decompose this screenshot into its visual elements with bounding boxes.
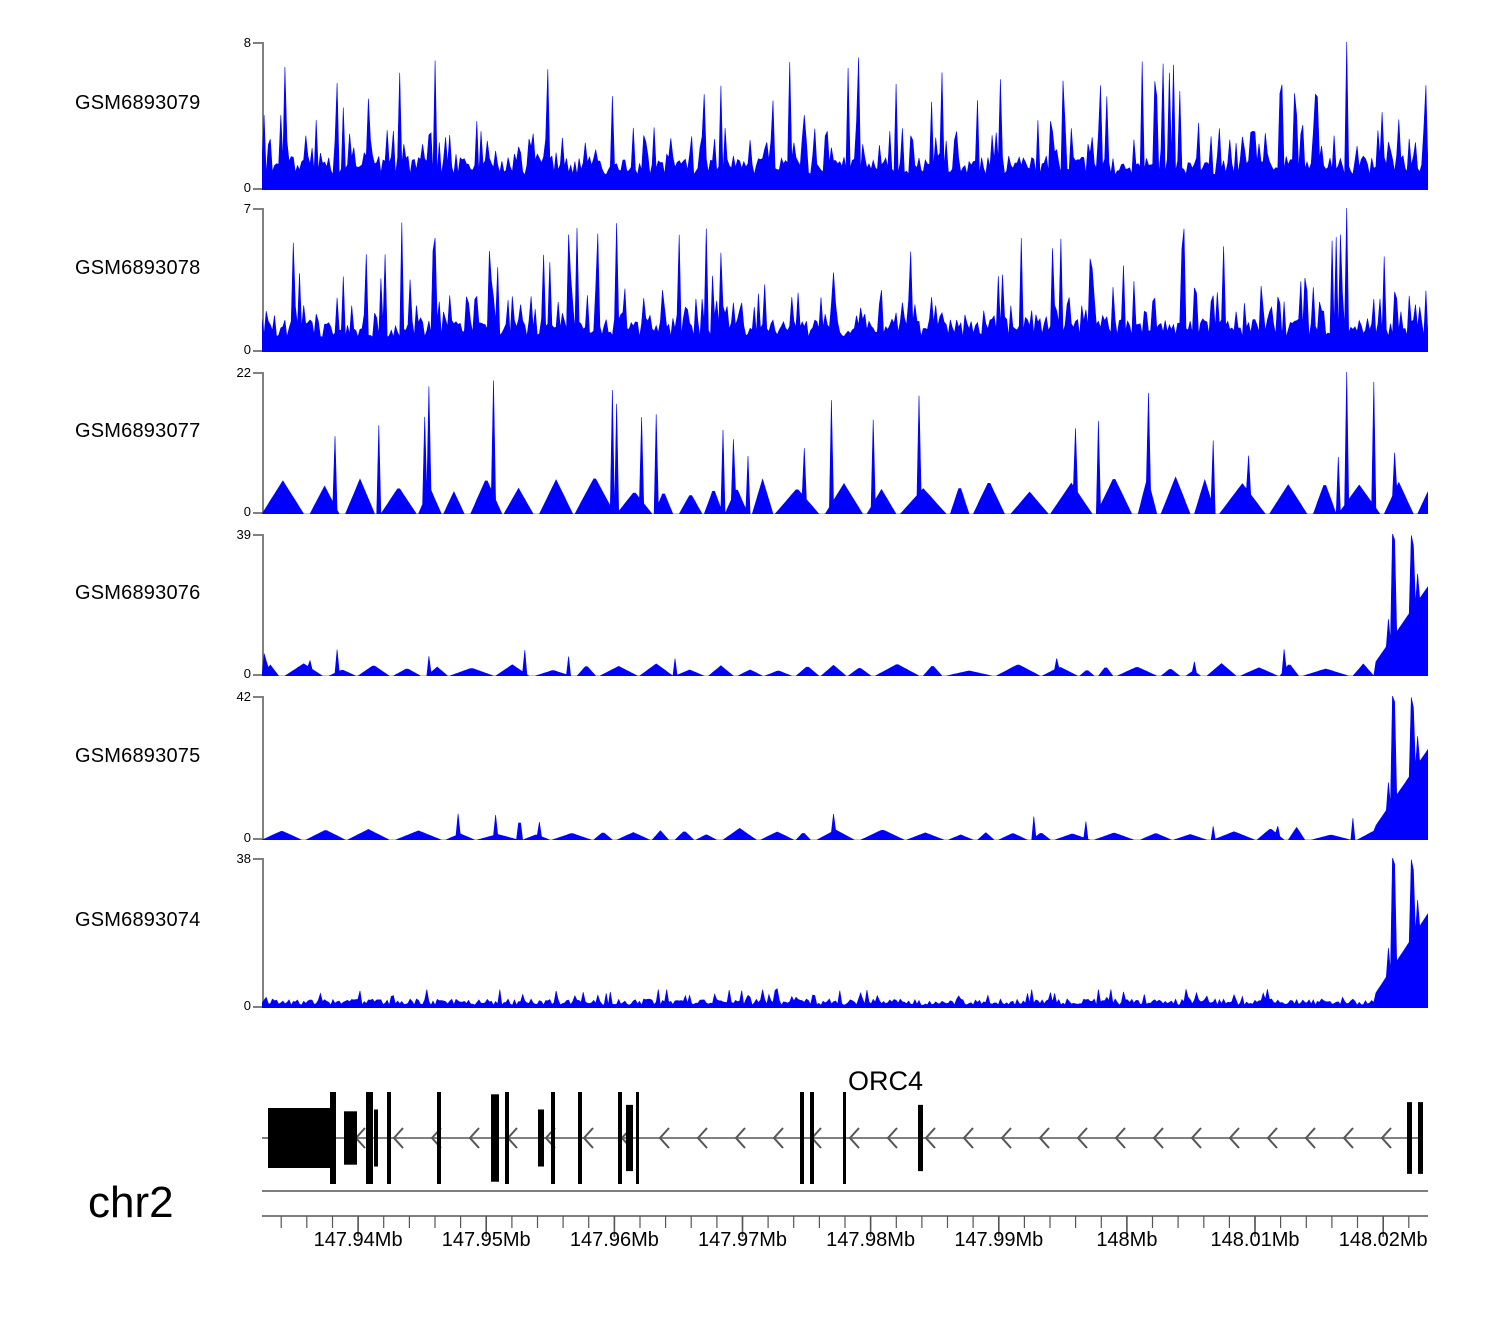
- y-axis-tick-bottom: [253, 188, 262, 190]
- track-label-gsm6893077: GSM6893077: [75, 420, 200, 443]
- axis-tick-label: 148Mb: [1096, 1229, 1157, 1252]
- track-signal-polygon: [262, 372, 1428, 514]
- track-signal-area[interactable]: [262, 534, 1428, 676]
- track-label-gsm6893076: GSM6893076: [75, 582, 200, 605]
- y-axis-max-label: 38: [237, 852, 251, 865]
- y-axis-tick-top: [253, 372, 262, 374]
- axis-tick-label: 148.02Mb: [1339, 1229, 1428, 1252]
- axis-tick-label: 147.94Mb: [314, 1229, 403, 1252]
- track-signal-polygon: [262, 858, 1428, 1008]
- y-axis-tick-bottom: [253, 350, 262, 352]
- y-axis-tick-top: [253, 42, 262, 44]
- genome-axis[interactable]: 147.94Mb147.95Mb147.96Mb147.97Mb147.98Mb…: [0, 1185, 1500, 1275]
- y-axis-tick-top: [253, 208, 262, 210]
- y-axis-max-label: 42: [237, 690, 251, 703]
- y-axis-tick-bottom: [253, 1006, 262, 1008]
- track-signal-area[interactable]: [262, 42, 1428, 190]
- y-axis-max-label: 7: [244, 202, 251, 215]
- gene-model-track[interactable]: ORC4: [0, 1060, 1500, 1190]
- track-label-gsm6893075: GSM6893075: [75, 745, 200, 768]
- y-axis-min-label: 0: [244, 667, 251, 680]
- y-axis-min-label: 0: [244, 343, 251, 356]
- track-signal-polygon: [262, 208, 1428, 352]
- track-signal-area[interactable]: [262, 208, 1428, 352]
- track-signal-area[interactable]: [262, 696, 1428, 840]
- track-label-gsm6893079: GSM6893079: [75, 92, 200, 115]
- y-axis-min-label: 0: [244, 181, 251, 194]
- axis-tick-label: 148.01Mb: [1211, 1229, 1300, 1252]
- y-axis-tick-top: [253, 858, 262, 860]
- y-axis-tick-top: [253, 534, 262, 536]
- track-signal-polygon: [262, 696, 1428, 840]
- track-label-gsm6893078: GSM6893078: [75, 257, 200, 280]
- y-axis-min-label: 0: [244, 831, 251, 844]
- axis-tick-label: 147.96Mb: [570, 1229, 659, 1252]
- gene-model-svg: [0, 1060, 1500, 1190]
- y-axis-max-label: 39: [237, 528, 251, 541]
- y-axis-tick-top: [253, 696, 262, 698]
- y-axis-tick-bottom: [253, 674, 262, 676]
- axis-tick-label: 147.98Mb: [826, 1229, 915, 1252]
- y-axis-max-label: 8: [244, 36, 251, 49]
- y-axis-min-label: 0: [244, 505, 251, 518]
- y-axis-tick-bottom: [253, 512, 262, 514]
- y-axis-min-label: 0: [244, 999, 251, 1012]
- track-signal-area[interactable]: [262, 858, 1428, 1008]
- track-label-gsm6893074: GSM6893074: [75, 909, 200, 932]
- track-signal-polygon: [262, 534, 1428, 676]
- axis-tick-label: 147.99Mb: [954, 1229, 1043, 1252]
- y-axis-max-label: 22: [237, 366, 251, 379]
- axis-tick-label: 147.97Mb: [698, 1229, 787, 1252]
- y-axis-tick-bottom: [253, 838, 262, 840]
- gene-name-label: ORC4: [848, 1066, 923, 1097]
- axis-tick-label: 147.95Mb: [442, 1229, 531, 1252]
- genome-browser-view: GSM689307980GSM689307870GSM6893077220GSM…: [0, 0, 1500, 1320]
- track-signal-area[interactable]: [262, 372, 1428, 514]
- track-signal-polygon: [262, 42, 1428, 190]
